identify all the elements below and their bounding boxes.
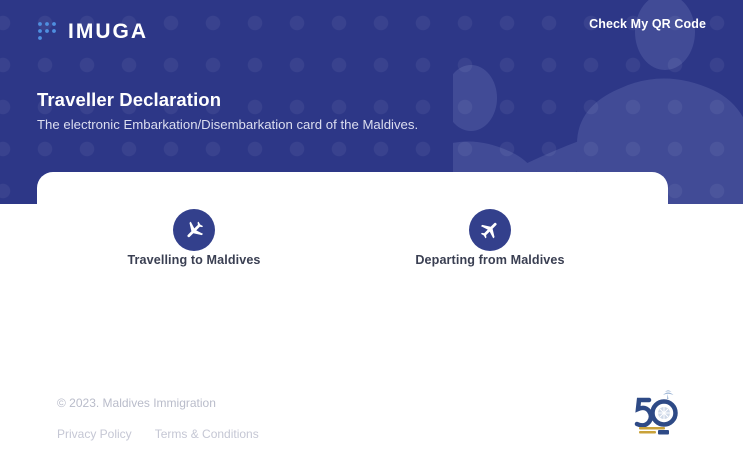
page-title: Traveller Declaration bbox=[37, 89, 221, 110]
page-footer: © 2023. Maldives Immigration Privacy Pol… bbox=[0, 344, 743, 464]
dot-grid-icon bbox=[37, 21, 59, 41]
option-list: Travelling to Maldives Departing from Ma… bbox=[37, 172, 668, 312]
privacy-policy-link[interactable]: Privacy Policy bbox=[57, 427, 132, 441]
copyright-text: © 2023. Maldives Immigration bbox=[57, 396, 216, 410]
plane-arriving-icon bbox=[183, 219, 205, 241]
declaration-card: Travelling to Maldives Departing from Ma… bbox=[37, 172, 668, 312]
plane-arriving-icon-wrapper bbox=[173, 209, 215, 251]
golden-years-tourism-logo bbox=[628, 387, 680, 435]
terms-and-conditions-link[interactable]: Terms & Conditions bbox=[155, 427, 259, 441]
option-label: Departing from Maldives bbox=[415, 253, 564, 267]
imuga-wordmark: IMUGA bbox=[68, 21, 148, 42]
check-my-qr-code-link[interactable]: Check My QR Code bbox=[589, 17, 706, 31]
imuga-logo[interactable]: IMUGA bbox=[37, 18, 148, 44]
option-travelling-to-maldives[interactable]: Travelling to Maldives bbox=[94, 209, 294, 269]
footer-links: Privacy Policy Terms & Conditions bbox=[57, 427, 259, 441]
option-departing-from-maldives[interactable]: Departing from Maldives bbox=[390, 209, 590, 269]
page-root: IMUGA Check My QR Code Traveller Declara… bbox=[0, 0, 743, 464]
plane-departing-icon-wrapper bbox=[469, 209, 511, 251]
option-label: Travelling to Maldives bbox=[127, 253, 260, 267]
page-subtitle: The electronic Embarkation/Disembarkatio… bbox=[37, 116, 418, 133]
plane-departing-icon bbox=[479, 219, 501, 241]
top-navigation-bar: IMUGA Check My QR Code bbox=[0, 0, 743, 58]
